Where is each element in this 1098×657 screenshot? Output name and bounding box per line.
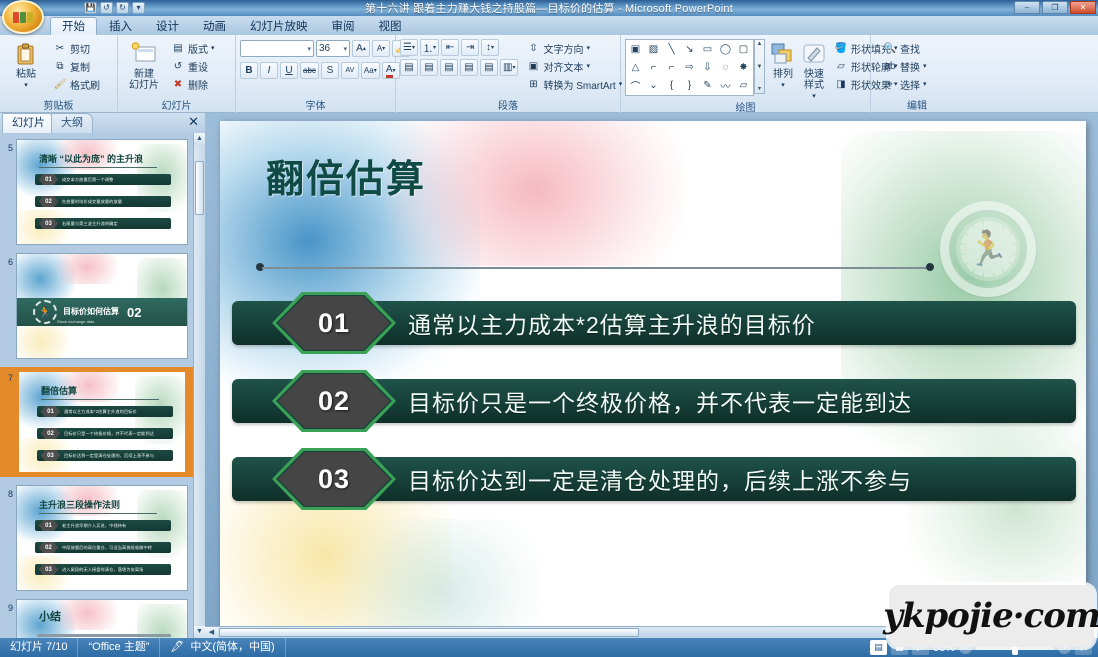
shape-oval-icon[interactable]: ◯ <box>717 41 734 58</box>
shape-cloud-icon[interactable]: ◌ <box>717 59 734 76</box>
layout-button[interactable]: ▤ 版式 ▾ <box>169 40 217 56</box>
shrink-font-button[interactable]: A▾ <box>372 40 390 57</box>
text-direction-icon: ⇳ <box>526 41 540 55</box>
outline-icon: ▱ <box>834 59 848 73</box>
paste-label: 粘贴 <box>16 69 36 80</box>
line-spacing-button[interactable]: ↕▾ <box>481 39 499 56</box>
thumbnail-number: 6 <box>2 253 16 267</box>
shape-line-icon[interactable]: ╲ <box>663 41 680 58</box>
bullet-text: 目标价只是一个终极价格，并不代表一定能到达 <box>408 384 912 418</box>
scroll-left-icon[interactable]: ◀ <box>205 627 218 638</box>
slide-stage: 🏃 翻倍估算 01 通常以主力成本*2估算主升浪的目标价 <box>205 113 1098 638</box>
group-editing: 🔍 查找 ab 替换 ▾ ⌖ 选择 ▾ 编辑 <box>871 35 963 113</box>
new-slide-icon <box>131 41 157 67</box>
mini-slide: 主升浪三段操作法则 01 老主升浪早期介入买进，中线持有 02 中段放量后的高位… <box>17 486 187 590</box>
thumbnail-number: 5 <box>2 139 16 153</box>
slide-bullet-rows: 01 通常以主力成本*2估算主升浪的目标价 02 目标价只是一个终极价格，并不代… <box>232 301 1076 535</box>
group-clipboard: 粘贴 ▾ ✂ 剪切 ⧉ 复制 🖌 格式刷 <box>0 35 118 113</box>
mini-title: 清晰 “以此为庞” 的主升浪 <box>39 152 143 165</box>
shape-right-arrow-icon[interactable]: ⇨ <box>681 59 698 76</box>
align-text-button[interactable]: ▣ 对齐文本 ▾ <box>524 58 624 74</box>
spell-check-icon: 🖋 <box>170 638 184 657</box>
bullet-number: 03 <box>318 464 350 495</box>
group-label-slides: 幻灯片 <box>122 100 231 113</box>
new-slide-label-2: 幻灯片 <box>129 80 159 91</box>
decrease-indent-button[interactable]: ⇤ <box>441 39 459 56</box>
maximize-button[interactable]: ❐ <box>1042 1 1068 14</box>
language-label: 中文(简体，中国) <box>190 638 274 657</box>
scroll-down-icon[interactable]: ▼ <box>194 626 205 638</box>
text-direction-button[interactable]: ⇳ 文字方向 ▾ <box>524 40 624 56</box>
close-button[interactable]: ✕ <box>1070 1 1096 14</box>
align-center-button[interactable]: ▤ <box>420 59 438 76</box>
text-direction-label: 文字方向 <box>543 41 583 56</box>
paste-dropdown-arrow[interactable]: ▾ <box>24 80 28 91</box>
paste-icon <box>13 41 39 67</box>
thumbnail-item[interactable]: 8 主升浪三段操作法则 01 老主升浪早期介入买进，中线持有 02 中段放量后的… <box>0 485 205 591</box>
thumbnail-number: 9 <box>2 599 16 613</box>
find-button[interactable]: 🔍 查找 <box>881 40 929 56</box>
shape-rectangle-icon[interactable]: ▭ <box>699 41 716 58</box>
select-button[interactable]: ⌖ 选择 ▾ <box>881 76 929 92</box>
delete-icon: ✖ <box>171 77 185 91</box>
group-label-font: 字体 <box>240 100 391 113</box>
shapes-more-icon[interactable]: ▾ <box>755 85 764 93</box>
thumbnail-number: 7 <box>2 369 16 383</box>
mini-num: 03 <box>41 450 60 461</box>
tab-slideshow[interactable]: 幻灯片放映 <box>238 17 320 36</box>
layout-dropdown-arrow[interactable]: ▾ <box>211 44 215 52</box>
bg-splash-pink <box>385 121 685 266</box>
justify-button[interactable]: ▤ <box>460 59 478 76</box>
tab-design[interactable]: 设计 <box>144 17 191 36</box>
shape-arc-icon[interactable]: ⌒ <box>627 77 644 94</box>
window-controls: – ❐ ✕ <box>1014 1 1096 14</box>
powerpoint-window: 💾 ↺ ↻ ▾ 第十六讲 跟着主力赚大钱之持股篇—目标价的估算 - Micros… <box>0 0 1098 657</box>
reset-icon: ↺ <box>171 59 185 73</box>
replace-button[interactable]: ab 替换 ▾ <box>881 58 929 74</box>
paste-button[interactable]: 粘贴 ▾ <box>4 39 48 91</box>
arrange-label: 排列 <box>773 69 793 80</box>
window-title: 第十六讲 跟着主力赚大钱之持股篇—目标价的估算 - Microsoft Powe… <box>0 0 1098 16</box>
align-right-button[interactable]: ▤ <box>440 59 458 76</box>
undo-button[interactable]: ↺ <box>100 2 113 14</box>
bullet-row[interactable]: 01 通常以主力成本*2估算主升浪的目标价 <box>232 301 1076 345</box>
tab-review[interactable]: 审阅 <box>320 17 367 36</box>
reset-button[interactable]: ↺ 重设 <box>169 58 217 74</box>
font-name-combo[interactable]: ▾ <box>240 40 314 57</box>
increase-indent-button[interactable]: ⇥ <box>461 39 479 56</box>
arrange-button[interactable]: 排列 ▾ <box>770 39 796 91</box>
format-painter-button[interactable]: 🖌 格式刷 <box>51 76 102 92</box>
shape-down-arrow-icon[interactable]: ⇩ <box>699 59 716 76</box>
scissors-icon: ✂ <box>53 41 67 55</box>
bg-splash-mint <box>340 519 540 629</box>
minimize-button[interactable]: – <box>1014 1 1040 14</box>
thumbnail-frame[interactable]: 主升浪三段操作法则 01 老主升浪早期介入买进，中线持有 02 中段放量后的高位… <box>16 485 188 591</box>
tab-slides[interactable]: 幻灯片 <box>2 113 55 133</box>
gear-runner-icon: 🏃 <box>33 300 57 324</box>
mini-text: 右尾量与第三波主升浪的确定 <box>62 221 118 227</box>
thumbnail-item[interactable]: 5 清晰 “以此为庞” 的主升浪 01 成交本方放量后第一个调整 02 在放量时… <box>0 139 205 245</box>
mini-title: 主升浪三段操作法则 <box>39 498 120 511</box>
bold-button[interactable]: B <box>240 62 258 79</box>
distribute-button[interactable]: ▤ <box>480 59 498 76</box>
quick-styles-button[interactable]: 快速样式 ▾ <box>801 39 827 102</box>
shape-picture-icon[interactable]: ▨ <box>645 41 662 58</box>
change-case-button[interactable]: Aa▾ <box>361 62 380 79</box>
shadow-label: S <box>327 65 334 76</box>
mini-slide: 清晰 “以此为庞” 的主升浪 01 成交本方放量后第一个调整 02 在放量时均价… <box>17 140 187 244</box>
chevron-down-icon: ▾ <box>343 45 347 53</box>
title-bar: 💾 ↺ ↻ ▾ 第十六讲 跟着主力赚大钱之持股篇—目标价的估算 - Micros… <box>0 0 1098 16</box>
mini-band-title: 目标价如何估算 <box>63 307 119 316</box>
mini-text: 老主升浪早期介入买进，中线持有 <box>62 523 126 529</box>
underline-label: U <box>285 65 292 76</box>
redo-button[interactable]: ↻ <box>116 2 129 14</box>
mini-num: 03 <box>39 564 58 575</box>
group-label-paragraph: 段落 <box>400 100 616 113</box>
search-icon: 🔍 <box>883 41 897 55</box>
current-slide[interactable]: 🏃 翻倍估算 01 通常以主力成本*2估算主升浪的目标价 <box>220 121 1086 629</box>
shape-triangle-icon[interactable]: △ <box>627 59 644 76</box>
font-size-combo[interactable]: 36 ▾ <box>316 40 350 57</box>
copy-button[interactable]: ⧉ 复制 <box>51 58 102 74</box>
italic-button[interactable]: I <box>260 62 278 79</box>
fill-bucket-icon: 🪣 <box>834 41 848 55</box>
shapes-scroll-down-icon[interactable]: ▼ <box>755 63 764 71</box>
paintbrush-icon: 🖌 <box>53 77 67 91</box>
shape-right-brace-icon[interactable]: } <box>681 77 698 94</box>
shape-curve-icon[interactable]: ⌄ <box>645 77 662 94</box>
convert-smartart-button[interactable]: ⊞ 转换为 SmartArt ▾ <box>524 76 624 92</box>
mini-text: 进入尾段的无人接盘时清仓，落袋为安离场 <box>62 567 143 573</box>
reset-label: 重设 <box>188 59 208 74</box>
mini-band-subtitle: Stock exchange data <box>57 319 119 324</box>
mini-num: 01 <box>41 406 60 417</box>
bold-label: B <box>245 65 252 76</box>
group-drawing: ▣ ▨ ╲ ↘ ▭ ◯ ▢ △ ⌐ ⌐ ⇨ ⇩ ◌ ✸ ⌒ <box>621 35 871 113</box>
ribbon: 粘贴 ▾ ✂ 剪切 ⧉ 复制 🖌 格式刷 <box>0 35 1098 113</box>
quick-styles-icon <box>801 41 827 67</box>
shape-explosion-icon[interactable]: ✸ <box>735 59 752 76</box>
char-spacing-label: AV <box>345 67 354 74</box>
gear-runner-icon: 🏃 <box>940 201 1036 297</box>
shapes-scrollbar[interactable]: ▲ ▼ ▾ <box>754 39 765 94</box>
grow-font-label: A <box>356 43 363 54</box>
office-logo-icon <box>2 0 44 34</box>
new-slide-label-1: 新建 <box>134 69 154 80</box>
shape-roundrect-icon[interactable]: ▢ <box>735 41 752 58</box>
bullet-number: 01 <box>318 308 350 339</box>
shape-freeform-icon[interactable]: ✎ <box>699 77 716 94</box>
font-size-value: 36 <box>319 43 330 54</box>
language-status[interactable]: 🖋 中文(简体，中国) <box>160 638 285 657</box>
shape-more-icon[interactable]: ▱ <box>735 77 752 94</box>
cursor-icon: ⌖ <box>883 77 897 91</box>
theme-name[interactable]: “Office 主题” <box>78 638 160 657</box>
mini-text: 中段放量后的高位重仓，可适当高抛低吸做中转 <box>62 545 152 551</box>
layout-label: 版式 <box>188 41 208 56</box>
bullets-button[interactable]: ☰▾ <box>400 39 418 56</box>
thumbnail-item[interactable]: 9 小结 <box>0 599 205 638</box>
shape-elbow-icon[interactable]: ⌐ <box>645 59 662 76</box>
chevron-down-icon: ▾ <box>307 45 311 53</box>
shape-elbow2-icon[interactable]: ⌐ <box>663 59 680 76</box>
mini-title: 翻倍估算 <box>41 384 77 397</box>
panel-tabs: 幻灯片 大纲 ✕ <box>0 113 205 133</box>
tab-outline[interactable]: 大纲 <box>51 113 93 133</box>
watermark: ykpojie·com <box>889 585 1094 647</box>
panel-scroll-thumb[interactable] <box>195 161 204 215</box>
thumbnail-list[interactable]: 5 清晰 “以此为庞” 的主升浪 01 成交本方放量后第一个调整 02 在放量时… <box>0 133 205 638</box>
mini-slide: 小结 <box>17 600 187 638</box>
scroll-up-icon[interactable]: ▲ <box>194 133 205 145</box>
title-rule-dot-right <box>926 263 934 271</box>
mini-num: 02 <box>39 542 58 553</box>
bullet-text: 目标价达到一定是清仓处理的，后续上涨不参与 <box>408 462 912 496</box>
thumbnail-frame[interactable]: 翻倍估算 01 通常以主力成本*2估算主升浪的目标价 02 目标价只是一个终极价… <box>16 369 188 475</box>
strikethrough-label: abc <box>303 66 316 75</box>
thumbnail-item-selected[interactable]: 7 翻倍估算 01 通常以主力成本*2估算主升浪的目标价 02 目标价只是一个终… <box>0 367 205 477</box>
layout-icon: ▤ <box>171 41 185 55</box>
group-slides: 新建 幻灯片 ▤ 版式 ▾ ↺ 重设 ✖ 删除 <box>118 35 236 113</box>
italic-label: I <box>268 65 271 76</box>
bullet-row[interactable]: 03 目标价达到一定是清仓处理的，后续上涨不参与 <box>232 457 1076 501</box>
shapes-gallery[interactable]: ▣ ▨ ╲ ↘ ▭ ◯ ▢ △ ⌐ ⌐ ⇨ ⇩ ◌ ✸ ⌒ <box>625 39 754 96</box>
tab-insert[interactable]: 插入 <box>97 17 144 36</box>
thumbnail-item[interactable]: 6 🏃 目标价如何估算 Stock exchange data 02 <box>0 253 205 359</box>
slide-title[interactable]: 翻倍估算 <box>266 148 426 203</box>
align-text-label: 对齐文本 <box>543 59 583 74</box>
shape-scribble-icon[interactable]: 〰 <box>717 77 734 94</box>
bullet-text: 通常以主力成本*2估算主升浪的目标价 <box>408 306 816 340</box>
ribbon-tabs: 开始 插入 设计 动画 幻灯片放映 审阅 视图 <box>0 16 1098 36</box>
select-label: 选择 <box>900 77 920 92</box>
close-panel-icon[interactable]: ✕ <box>188 115 199 129</box>
mini-num: 01 <box>39 520 58 531</box>
quick-styles-label: 快速样式 <box>801 69 827 91</box>
mini-text: 目标价只是一个终极价格，并不代表一定能到达 <box>64 431 154 437</box>
columns-button[interactable]: ▥▾ <box>500 59 518 76</box>
group-label-clipboard: 剪贴板 <box>4 100 113 113</box>
shape-textbox-icon[interactable]: ▣ <box>627 41 644 58</box>
mini-band-number: 02 <box>127 305 141 320</box>
text-shadow-button[interactable]: S <box>321 62 339 79</box>
slides-panel: 幻灯片 大纲 ✕ 5 清晰 “以此为庞” 的主升浪 01 成交本方放量后第一个调… <box>0 113 205 638</box>
convert-smartart-label: 转换为 SmartArt <box>543 77 615 92</box>
cut-label: 剪切 <box>70 41 90 56</box>
panel-scrollbar[interactable]: ▲ ▼ <box>193 133 205 638</box>
thumbnail-frame[interactable]: 清晰 “以此为庞” 的主升浪 01 成交本方放量后第一个调整 02 在放量时均价… <box>16 139 188 245</box>
format-painter-label: 格式刷 <box>70 77 100 92</box>
shape-left-brace-icon[interactable]: { <box>663 77 680 94</box>
mini-text: 成交本方放量后第一个调整 <box>62 177 113 183</box>
group-paragraph: ☰▾ ⒈▾ ⇤ ⇥ ↕▾ ▤ ▤ ▤ ▤ ▤ ▥▾ <box>396 35 621 113</box>
mini-num: 02 <box>41 428 60 439</box>
office-button[interactable] <box>2 0 46 36</box>
mini-slide: 🏃 目标价如何估算 Stock exchange data 02 <box>17 254 187 358</box>
delete-label: 删除 <box>188 77 208 92</box>
font-color-label: A <box>386 64 393 78</box>
tab-view[interactable]: 视图 <box>367 17 414 36</box>
mini-num: 03 <box>39 218 58 229</box>
replace-icon: ab <box>883 59 897 73</box>
mini-text: 在放量时均价成交量放量的放量 <box>62 199 122 205</box>
mini-section-band: 🏃 目标价如何估算 Stock exchange data 02 <box>17 298 187 326</box>
title-rule <box>262 267 930 269</box>
normal-view-button[interactable]: ▤ <box>870 640 887 655</box>
character-spacing-button[interactable]: AV <box>341 62 359 79</box>
mini-slide: 翻倍估算 01 通常以主力成本*2估算主升浪的目标价 02 目标价只是一个终极价… <box>19 372 185 472</box>
thumbnail-frame[interactable]: 小结 <box>16 599 188 638</box>
customize-qat-button[interactable]: ▾ <box>132 2 145 14</box>
shape-arrow-icon[interactable]: ↘ <box>681 41 698 58</box>
new-slide-button[interactable]: 新建 幻灯片 <box>122 39 166 91</box>
mini-num: 01 <box>39 174 58 185</box>
mini-num: 02 <box>39 196 58 207</box>
save-button[interactable]: 💾 <box>84 2 97 14</box>
arrange-icon <box>770 41 796 67</box>
find-label: 查找 <box>900 41 920 56</box>
cut-button[interactable]: ✂ 剪切 <box>51 40 102 56</box>
effects-icon: ◨ <box>834 77 848 91</box>
thumbnail-frame[interactable]: 🏃 目标价如何估算 Stock exchange data 02 <box>16 253 188 359</box>
shapes-scroll-up-icon[interactable]: ▲ <box>755 40 764 48</box>
smartart-icon: ⊞ <box>526 77 540 91</box>
change-case-label: Aa <box>364 66 374 75</box>
mini-text: 通常以主力成本*2估算主升浪的目标价 <box>64 409 137 415</box>
replace-label: 替换 <box>900 59 920 74</box>
group-label-editing: 编辑 <box>875 100 959 113</box>
align-left-button[interactable]: ▤ <box>400 59 418 76</box>
copy-icon: ⧉ <box>53 59 67 73</box>
horizontal-scroll-thumb[interactable] <box>219 628 639 637</box>
mini-title: 小结 <box>39 608 61 624</box>
delete-slide-button[interactable]: ✖ 删除 <box>169 76 217 92</box>
grow-font-button[interactable]: A▴ <box>352 40 370 57</box>
tab-home[interactable]: 开始 <box>50 17 97 36</box>
bullet-number: 02 <box>318 386 350 417</box>
align-text-icon: ▣ <box>526 59 540 73</box>
copy-label: 复制 <box>70 59 90 74</box>
thumbnail-number: 8 <box>2 485 16 499</box>
tab-animations[interactable]: 动画 <box>191 17 238 36</box>
bullet-row[interactable]: 02 目标价只是一个终极价格，并不代表一定能到达 <box>232 379 1076 423</box>
strikethrough-button[interactable]: abc <box>300 62 319 79</box>
slide-counter: 幻灯片 7/10 <box>0 638 78 657</box>
mini-text: 目标价达到一定是清仓处理的，后续上涨不参与 <box>64 453 154 459</box>
underline-button[interactable]: U <box>280 62 298 79</box>
group-font: ▾ 36 ▾ A▴ A▾ 🧹 B I U abc S AV <box>236 35 396 113</box>
numbering-button[interactable]: ⒈▾ <box>420 39 439 56</box>
